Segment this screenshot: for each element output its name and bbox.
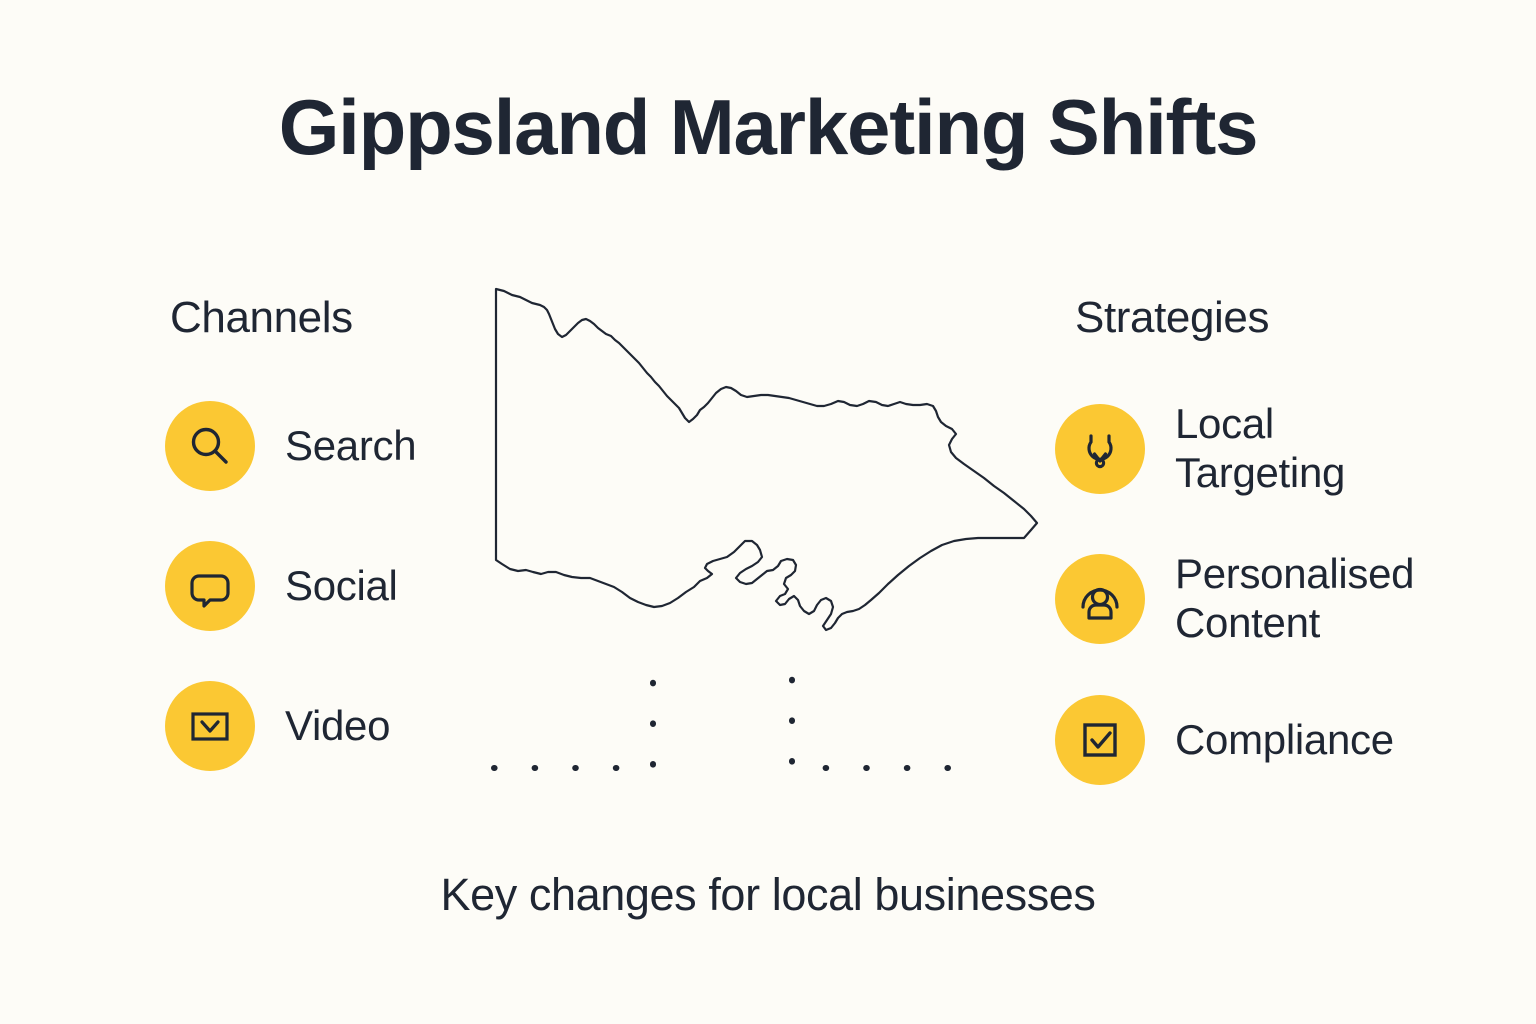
connector-left — [494, 666, 653, 768]
search-icon-badge — [165, 401, 255, 491]
footer-caption: Key changes for local businesses — [0, 872, 1536, 917]
channel-label-social: Social — [285, 562, 398, 611]
strategy-item-compliance[interactable]: Compliance — [1055, 695, 1394, 785]
strategy-item-personalised-content[interactable]: Personalised Content — [1055, 550, 1414, 647]
channel-label-video: Video — [285, 702, 390, 751]
search-icon — [186, 422, 234, 470]
map-outline-path — [496, 289, 1037, 630]
infographic-canvas: Gippsland Marketing Shifts Channels Stra… — [0, 0, 1536, 1024]
channel-item-video[interactable]: Video — [165, 681, 390, 771]
checkbox-check-icon-badge — [1055, 695, 1145, 785]
connector-right — [792, 666, 948, 768]
speech-bubble-icon-badge — [165, 541, 255, 631]
video-frame-chevron-icon — [186, 702, 234, 750]
dotted-connectors — [480, 650, 1000, 800]
channels-column-heading: Channels — [170, 296, 353, 340]
person-arc-icon — [1076, 575, 1124, 623]
channel-label-search: Search — [285, 422, 416, 471]
victoria-map-outline — [486, 278, 1046, 653]
strategy-label-local-targeting: Local Targeting — [1175, 400, 1345, 497]
video-frame-chevron-icon-badge — [165, 681, 255, 771]
checkbox-check-icon — [1076, 716, 1124, 764]
map-pin-icon-badge — [1055, 404, 1145, 494]
map-pin-icon — [1076, 425, 1124, 473]
strategy-label-personalised-content: Personalised Content — [1175, 550, 1414, 647]
strategy-label-compliance: Compliance — [1175, 716, 1394, 765]
speech-bubble-icon — [186, 562, 234, 610]
channel-item-search[interactable]: Search — [165, 401, 416, 491]
strategy-item-local-targeting[interactable]: Local Targeting — [1055, 400, 1345, 497]
person-arc-icon-badge — [1055, 554, 1145, 644]
page-title: Gippsland Marketing Shifts — [0, 88, 1536, 166]
channel-item-social[interactable]: Social — [165, 541, 398, 631]
strategies-column-heading: Strategies — [1075, 296, 1269, 340]
